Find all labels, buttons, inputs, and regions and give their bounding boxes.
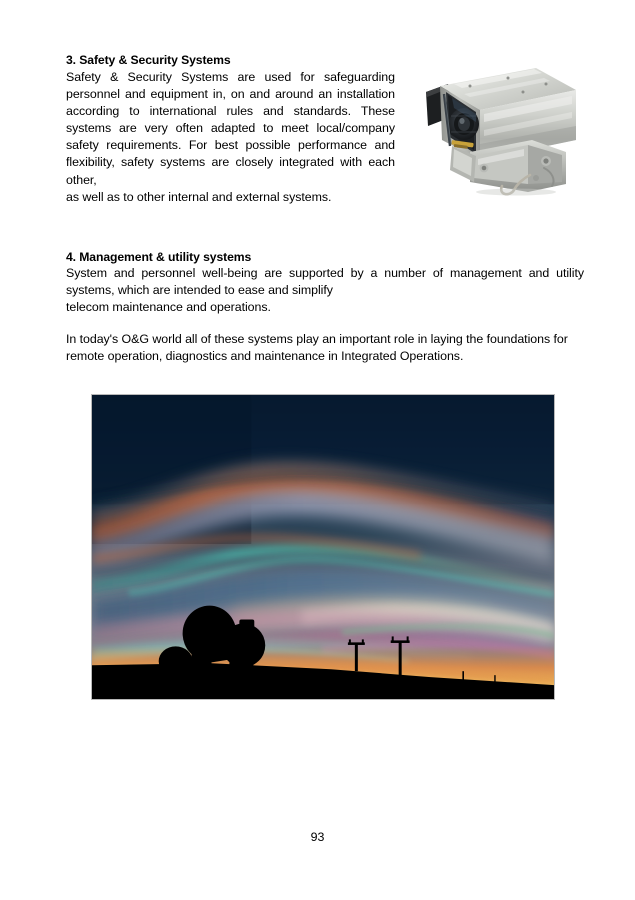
nacreous-cloud-figure [91, 394, 555, 700]
page-number: 93 [0, 830, 635, 844]
nacreous-sky-illustration [92, 395, 554, 699]
section-3-heading: 3. Safety & Security Systems [66, 52, 406, 68]
section-3-body-text: Safety & Security Systems are used for s… [66, 70, 395, 187]
closing-paragraph: In today's O&G world all of these system… [66, 331, 586, 366]
section-3-body: Safety & Security Systems are used for s… [66, 69, 395, 206]
cctv-camera-figure [424, 64, 582, 196]
document-page: 3. Safety & Security Systems Safety & Se… [0, 0, 635, 900]
section-4-body-last-line: telecom maintenance and operations. [66, 299, 584, 316]
section-4-body: System and personnel well-being are supp… [66, 265, 584, 316]
cctv-camera-illustration [424, 64, 582, 196]
section-3-body-last-line: as well as to other internal and externa… [66, 189, 395, 206]
section-4-heading: 4. Management & utility systems [66, 249, 586, 265]
section-4-body-text: System and personnel well-being are supp… [66, 266, 584, 297]
